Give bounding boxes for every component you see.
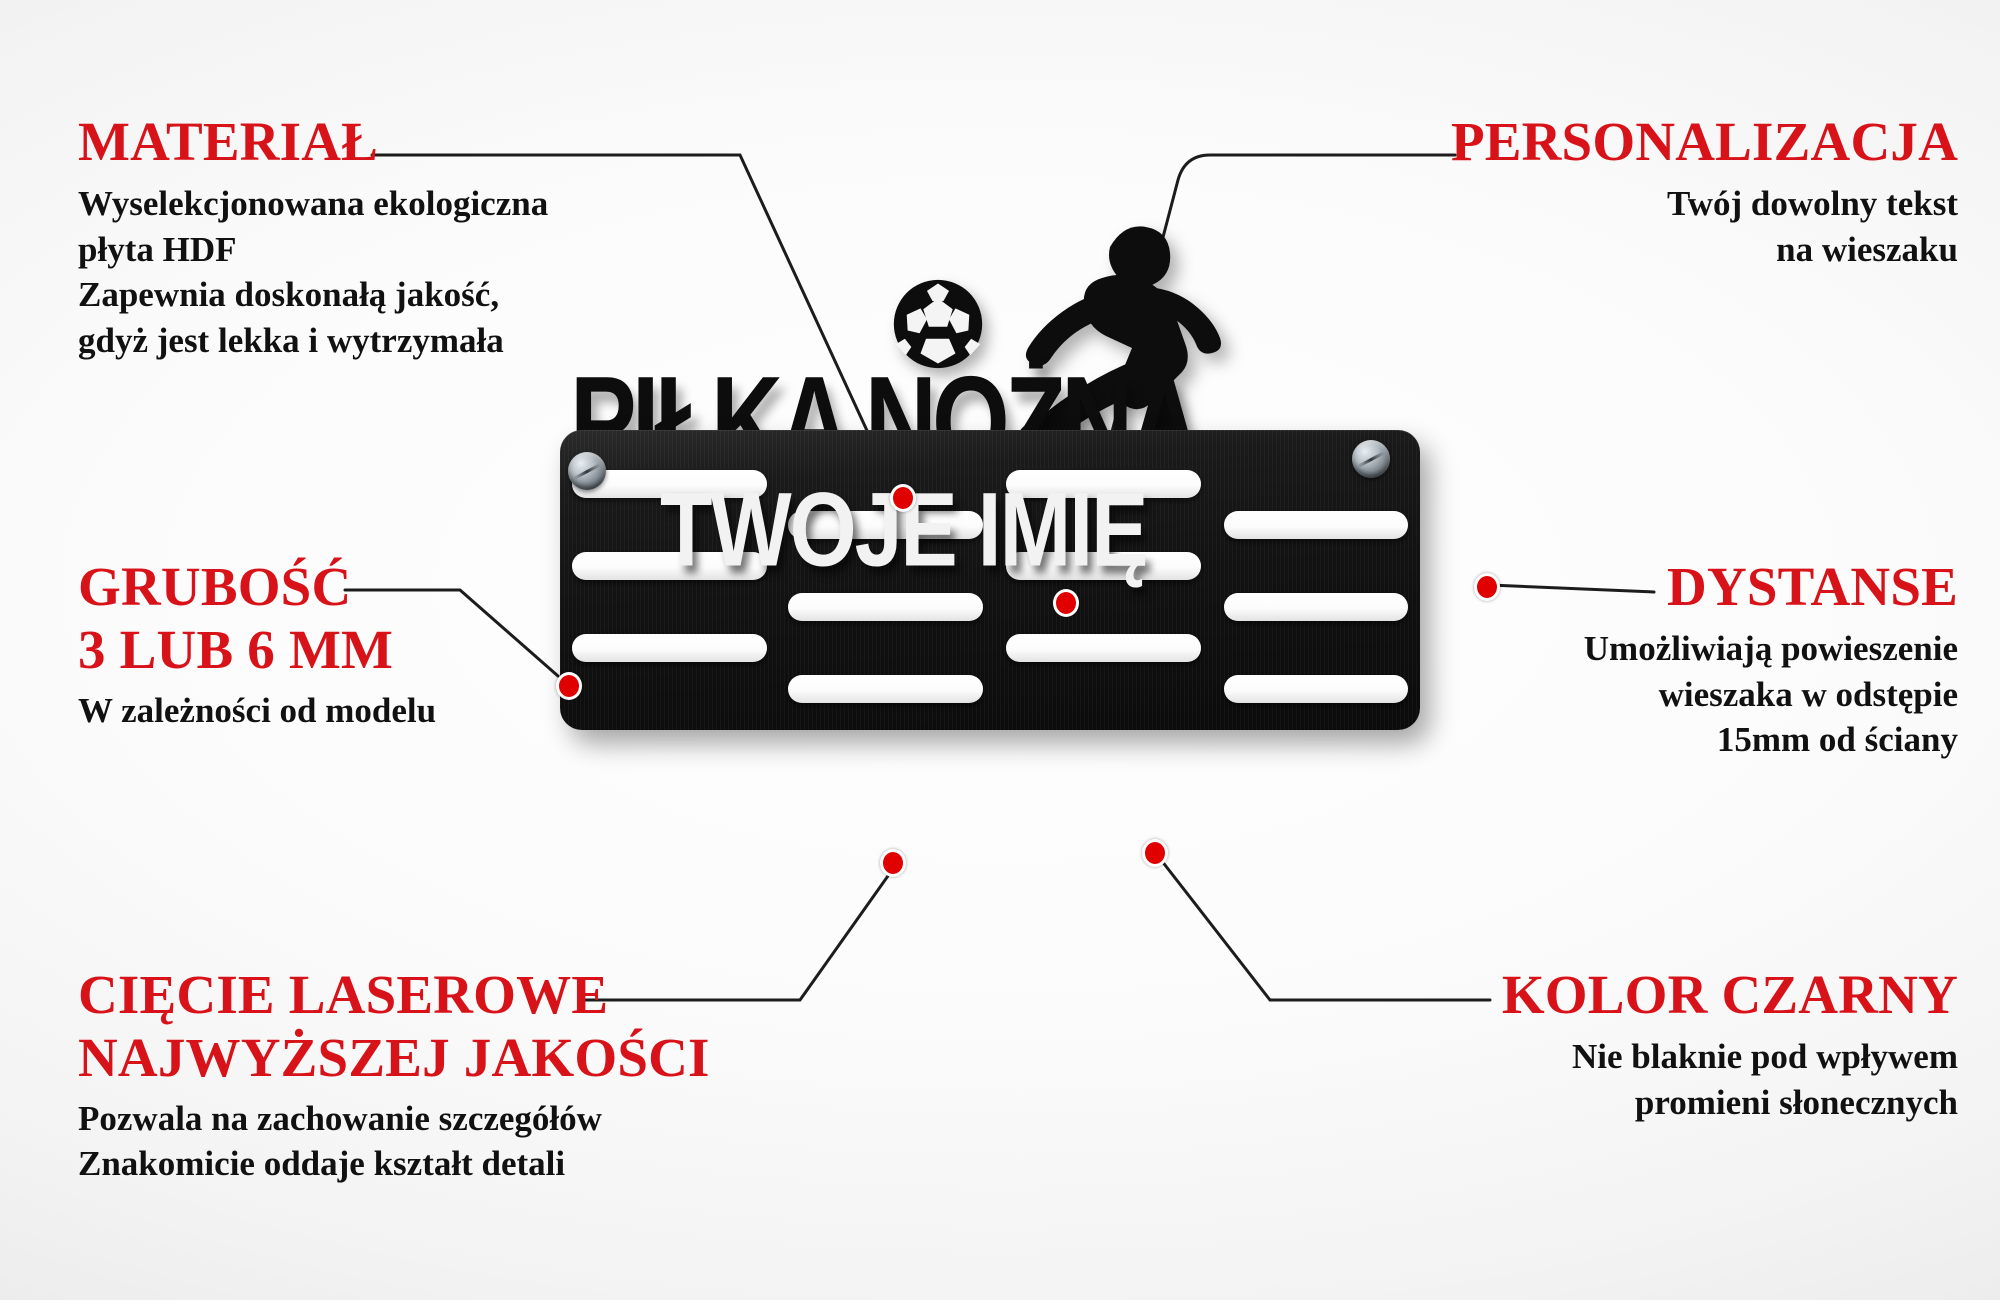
screw-head-icon-right	[1352, 440, 1390, 478]
callout-dystanse: DYSTANSE Umożliwiają powieszenie wieszak…	[1298, 557, 1958, 763]
callout-kolor-czarny-title: KOLOR CZARNY	[1258, 965, 1958, 1024]
callout-kolor-czarny: KOLOR CZARNY Nie blaknie pod wpływem pro…	[1258, 965, 1958, 1125]
screw-head-icon-left	[568, 452, 606, 490]
callout-grubosc-line-1: W zależności od modelu	[78, 688, 638, 734]
callout-material-line-1: Wyselekcjonowana ekologiczna	[78, 181, 718, 227]
callout-material-line-2: płyta HDF	[78, 227, 718, 273]
callout-kolor-czarny-line-2: promieni słonecznych	[1258, 1080, 1958, 1126]
callout-material: MATERIAŁ Wyselekcjonowana ekologiczna pł…	[78, 112, 718, 363]
callout-material-line-4: gdyż jest lekka i wytrzymała	[78, 318, 718, 364]
hotspot-kolor-czarny[interactable]	[1142, 839, 1168, 867]
callout-material-title: MATERIAŁ	[78, 112, 718, 171]
callout-material-line-3: Zapewnia doskonałą jakość,	[78, 272, 718, 318]
callout-personalizacja-line-1: Twój dowolny tekst	[1238, 181, 1958, 227]
callout-ciecie-laserowe: CIĘCIE LASEROWE NAJWYŻSZEJ JAKOŚCI Pozwa…	[78, 965, 798, 1187]
callout-personalizacja-title: PERSONALIZACJA	[1238, 112, 1958, 171]
callout-ciecie-laserowe-line-1: Pozwala na zachowanie szczegółów	[78, 1096, 798, 1142]
hotspot-material[interactable]	[890, 484, 916, 512]
hotspot-ciecie-laserowe[interactable]	[880, 849, 906, 877]
callout-dystanse-title: DYSTANSE	[1298, 557, 1958, 616]
hotspot-personalizacja[interactable]	[1053, 589, 1079, 617]
callout-personalizacja-line-2: na wieszaku	[1238, 227, 1958, 273]
callout-grubosc: GRUBOŚĆ 3 LUB 6 MM W zależności od model…	[78, 557, 638, 733]
callout-grubosc-title-2: 3 LUB 6 MM	[78, 620, 638, 679]
callout-grubosc-title: GRUBOŚĆ	[78, 557, 638, 616]
callout-ciecie-laserowe-line-2: Znakomicie oddaje kształt detali	[78, 1141, 798, 1187]
callout-personalizacja: PERSONALIZACJA Twój dowolny tekst na wie…	[1238, 112, 1958, 272]
callout-dystanse-line-1: Umożliwiają powieszenie	[1298, 626, 1958, 672]
infographic-canvas: PIŁKA NOŻNA	[0, 0, 2000, 1300]
callout-kolor-czarny-line-1: Nie blaknie pod wpływem	[1258, 1034, 1958, 1080]
callout-dystanse-line-3: 15mm od ściany	[1298, 717, 1958, 763]
callout-ciecie-laserowe-title-2: NAJWYŻSZEJ JAKOŚCI	[78, 1028, 798, 1087]
callout-ciecie-laserowe-title: CIĘCIE LASEROWE	[78, 965, 798, 1024]
callout-dystanse-line-2: wieszaka w odstępie	[1298, 672, 1958, 718]
